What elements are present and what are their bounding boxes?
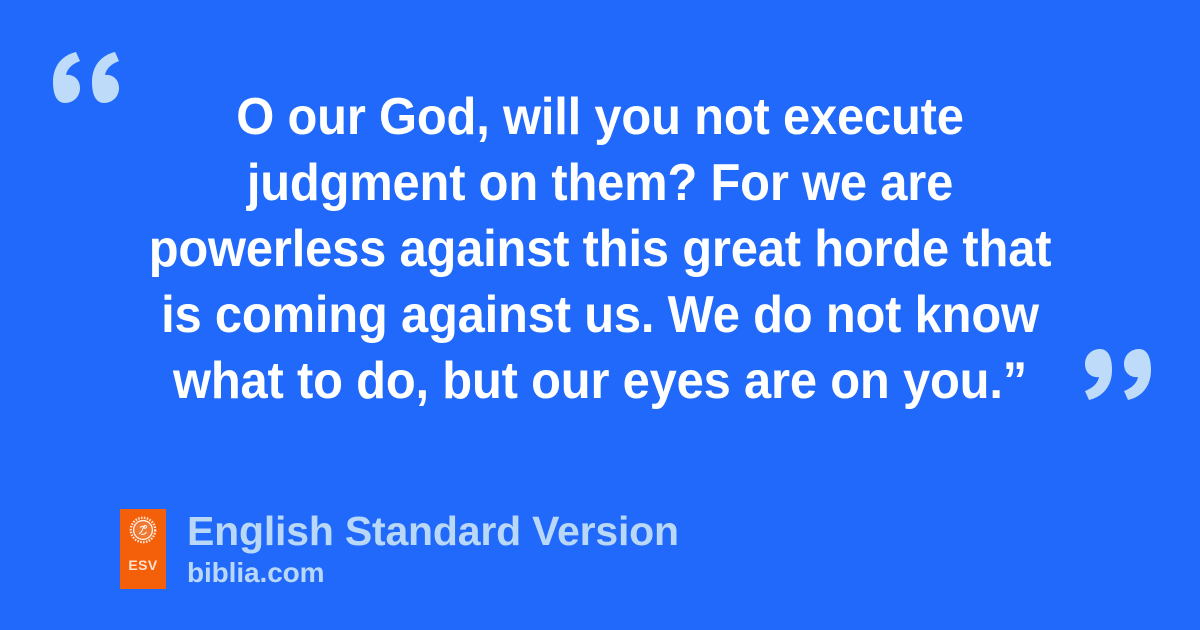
- quote-line: what to do, but our eyes are on you.”: [128, 348, 1072, 414]
- close-quote-icon: [1082, 346, 1156, 400]
- esv-badge-label: ESV: [128, 558, 157, 572]
- bible-version-name: English Standard Version: [187, 509, 679, 553]
- quote-line: is coming against us. We do not know: [128, 282, 1072, 348]
- quote-line: judgment on them? For we are: [128, 150, 1072, 216]
- site-name: biblia.com: [187, 558, 679, 588]
- attribution: ESV English Standard Version biblia.com: [120, 509, 679, 589]
- quote-line: powerless against this great horde that: [128, 216, 1072, 282]
- quote-line: O our God, will you not execute: [128, 84, 1072, 150]
- esv-logo-badge: ESV: [120, 509, 166, 589]
- esv-seal-icon: [129, 516, 157, 549]
- attribution-text: English Standard Version biblia.com: [187, 509, 679, 588]
- quote-text: O our God, will you not execute judgment…: [0, 84, 1200, 414]
- quote-card: O our God, will you not execute judgment…: [0, 0, 1200, 630]
